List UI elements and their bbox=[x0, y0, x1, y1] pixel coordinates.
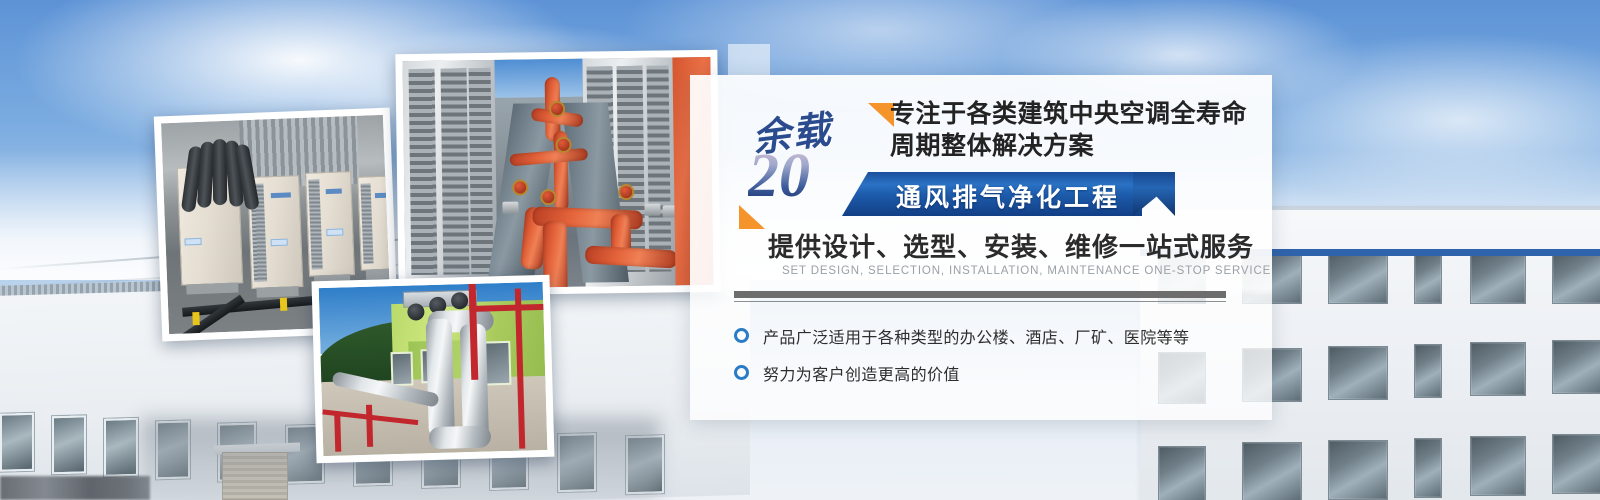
accent-square bbox=[728, 44, 770, 76]
subheadline-chinese: 提供设计、选型、安装、维修一站式服务 bbox=[768, 227, 1254, 264]
logo-year-number: 20 bbox=[748, 145, 810, 207]
photo-card-chiller-pipework bbox=[395, 50, 720, 296]
list-item: 产品广泛适用于各种类型的办公楼、酒店、厂矿、医院等等 bbox=[734, 317, 1234, 354]
parked-cars bbox=[0, 476, 150, 500]
headline-line-2: 周期整体解决方案 bbox=[890, 130, 1260, 162]
bullet-circle-icon bbox=[734, 365, 749, 380]
divider-thin bbox=[734, 301, 1226, 302]
bullet-label: 产品广泛适用于各种类型的办公楼、酒店、厂矿、医院等等 bbox=[763, 324, 1189, 348]
list-item: 努力为客户创造更高的价值 bbox=[734, 354, 1234, 391]
headline: 专注于各类建筑中央空调全寿命 周期整体解决方案 bbox=[890, 98, 1260, 162]
ribbon-tail-icon bbox=[1133, 172, 1175, 216]
subheadline-english: SET DESIGN, SELECTION, INSTALLATION, MAI… bbox=[782, 265, 1271, 277]
headline-line-1: 专注于各类建筑中央空调全寿命 bbox=[890, 98, 1260, 130]
feature-bullet-list: 产品广泛适用于各种类型的办公楼、酒店、厂矿、医院等等 努力为客户创造更高的价值 bbox=[734, 317, 1234, 391]
photo-card-rooftop-duct-system bbox=[312, 275, 555, 464]
content-panel: 余载 20 专注于各类建筑中央空调全寿命 周期整体解决方案 通风排气净化工程 提… bbox=[690, 75, 1272, 420]
bullet-circle-icon bbox=[734, 328, 749, 343]
bullet-label: 努力为客户创造更高的价值 bbox=[763, 361, 960, 385]
hero-banner: 余载 20 专注于各类建筑中央空调全寿命 周期整体解决方案 通风排气净化工程 提… bbox=[0, 0, 1600, 500]
ribbon-label: 通风排气净化工程 bbox=[896, 178, 1120, 214]
service-ribbon: 通风排气净化工程 bbox=[842, 172, 1142, 216]
divider-thick bbox=[734, 291, 1226, 298]
